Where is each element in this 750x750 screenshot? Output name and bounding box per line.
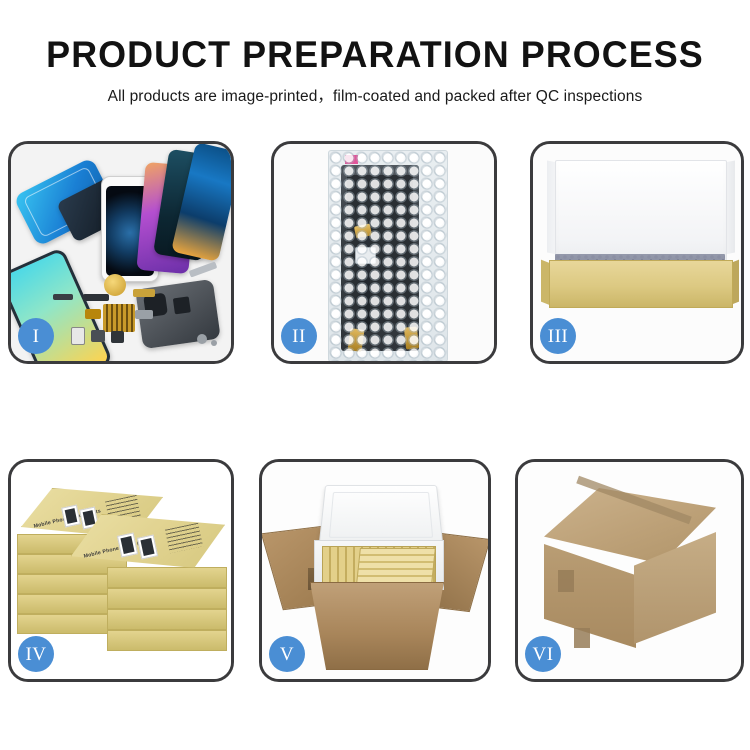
gold-flex-tab-right <box>404 326 419 349</box>
process-step-panel-3[interactable]: III <box>530 141 744 364</box>
process-step-panel-1[interactable]: I <box>8 141 234 364</box>
stacked-box-right-2 <box>107 567 227 588</box>
kraft-tray-front <box>549 260 733 308</box>
speaker-module-part <box>111 331 124 343</box>
gold-coil-part <box>104 274 126 296</box>
gold-contact-part <box>85 309 101 319</box>
pink-qc-label <box>345 155 358 164</box>
shield-plate-part <box>53 294 73 300</box>
process-step-panel-6[interactable]: VI <box>515 459 744 682</box>
carton-corner-tab-upper <box>558 570 574 592</box>
step-badge-2: II <box>281 318 317 354</box>
antenna-strip-part <box>189 261 218 277</box>
process-step-panel-4[interactable]: Mobile Phone Spare Parts Mobile Phone Sp… <box>8 459 234 682</box>
product-preparation-process-page: PRODUCT PREPARATION PROCESS All products… <box>0 0 750 750</box>
sealed-carton-front <box>544 544 636 648</box>
step-badge-5: V <box>269 636 305 672</box>
stacked-box-right-5 <box>107 630 227 651</box>
step-badge-1: I <box>18 318 54 354</box>
process-step-panel-2[interactable]: II <box>271 141 497 364</box>
process-step-panel-5[interactable]: V <box>259 459 491 682</box>
packed-lcd-screen <box>341 165 419 351</box>
carton-corner-tab-lower <box>574 628 590 648</box>
packed-retail-boxes-stack <box>356 548 436 584</box>
stacked-box-right-4 <box>107 609 227 630</box>
flex-connector <box>355 247 376 264</box>
foam-lid <box>319 485 444 546</box>
battery-connector-part <box>83 294 109 301</box>
step-badge-4: IV <box>18 636 54 672</box>
step-badge-6: VI <box>525 636 561 672</box>
flex-cable-part <box>133 289 155 297</box>
carton-body <box>310 582 444 670</box>
sim-tray-part <box>71 327 85 345</box>
process-step-grid: I II <box>0 0 750 750</box>
logic-board-part <box>103 304 135 332</box>
camera-module-part <box>91 330 105 342</box>
stacked-box-right-3 <box>107 588 227 609</box>
step-badge-3: III <box>540 318 576 354</box>
screw-set-part <box>197 334 207 344</box>
bubble-wrap-bag <box>328 150 448 361</box>
metal-bracket-part <box>135 310 153 319</box>
